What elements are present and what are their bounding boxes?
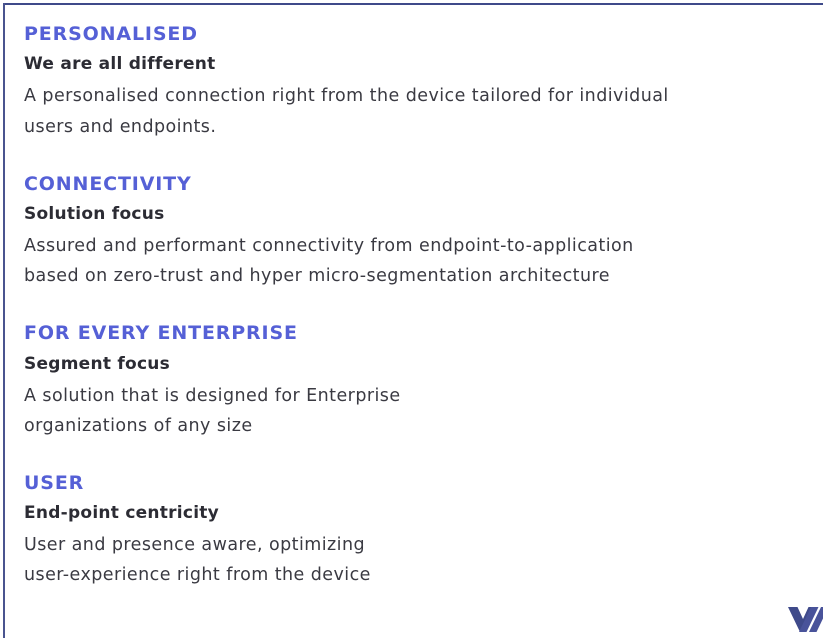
section-subhead: We are all different — [24, 53, 815, 75]
body-line: based on zero-trust and hyper micro-segm… — [24, 261, 815, 291]
body-line: A personalised connection right from the… — [24, 81, 815, 111]
section-body: A solution that is designed for Enterpri… — [24, 381, 815, 441]
body-line: A solution that is designed for Enterpri… — [24, 381, 815, 411]
body-line: user-experience right from the device — [24, 560, 815, 590]
section-body: Assured and performant connectivity from… — [24, 231, 815, 291]
section-body: User and presence aware, optimizing user… — [24, 530, 815, 590]
section-subhead: End-point centricity — [24, 502, 815, 524]
top-rule — [3, 3, 823, 5]
section-user: USER End-point centricity User and prese… — [24, 471, 815, 591]
section-connectivity: CONNECTIVITY Solution focus Assured and … — [24, 172, 815, 292]
section-kicker: FOR EVERY ENTERPRISE — [24, 321, 815, 345]
slide-canvas: PERSONALISED We are all different A pers… — [0, 0, 823, 638]
section-kicker: USER — [24, 471, 815, 495]
section-kicker: PERSONALISED — [24, 22, 815, 46]
body-line: users and endpoints. — [24, 112, 815, 142]
section-subhead: Solution focus — [24, 203, 815, 225]
section-body: A personalised connection right from the… — [24, 81, 815, 141]
section-personalised: PERSONALISED We are all different A pers… — [24, 22, 815, 142]
body-line: organizations of any size — [24, 411, 815, 441]
content-column: PERSONALISED We are all different A pers… — [24, 22, 815, 590]
section-kicker: CONNECTIVITY — [24, 172, 815, 196]
section-subhead: Segment focus — [24, 353, 815, 375]
body-line: Assured and performant connectivity from… — [24, 231, 815, 261]
left-rule — [3, 3, 5, 638]
brand-chevron-icon — [787, 606, 823, 632]
section-for-every-enterprise: FOR EVERY ENTERPRISE Segment focus A sol… — [24, 321, 815, 441]
body-line: User and presence aware, optimizing — [24, 530, 815, 560]
